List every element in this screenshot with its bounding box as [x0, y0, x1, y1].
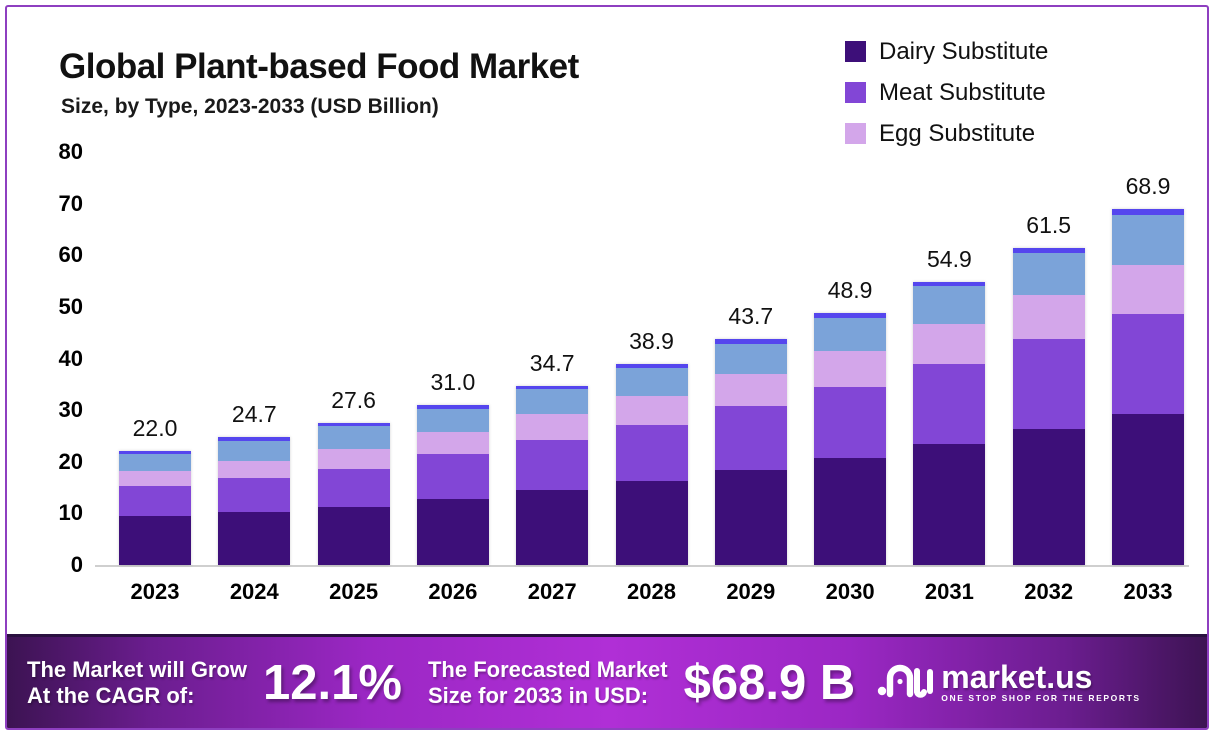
- bar-segment-band-blue: [218, 441, 290, 461]
- bar-segment-egg-substitute: [616, 396, 688, 424]
- y-axis-tick: 40: [39, 346, 83, 372]
- y-axis-tick: 80: [39, 139, 83, 165]
- bar-2025[interactable]: [318, 423, 390, 565]
- market-us-logo-tagline: ONE STOP SHOP FOR THE REPORTS: [941, 693, 1140, 703]
- forecast-caption: The Forecasted Market Size for 2033 in U…: [428, 657, 668, 709]
- x-axis-line: [95, 565, 1189, 567]
- bar-value-label-2032: 61.5: [989, 212, 1109, 239]
- bar-segment-dairy-substitute: [715, 470, 787, 564]
- bar-segment-egg-substitute: [218, 461, 290, 479]
- bar-segment-band-blue: [119, 454, 191, 471]
- forecast-caption-line2: Size for 2033 in USD:: [428, 683, 668, 709]
- bar-2028[interactable]: [616, 364, 688, 565]
- market-us-logo-textblock: market.us ONE STOP SHOP FOR THE REPORTS: [941, 662, 1140, 703]
- bar-segment-egg-substitute: [1013, 295, 1085, 339]
- bar-2027[interactable]: [516, 386, 588, 565]
- bar-segment-meat-substitute: [1112, 314, 1184, 414]
- bar-segment-meat-substitute: [516, 440, 588, 491]
- bar-segment-egg-substitute: [1112, 265, 1184, 315]
- bar-segment-meat-substitute: [417, 454, 489, 498]
- bar-2031[interactable]: [913, 282, 985, 565]
- y-axis-tick: 10: [39, 500, 83, 526]
- bar-2024[interactable]: [218, 437, 290, 565]
- bar-segment-meat-substitute: [715, 406, 787, 471]
- bar-segment-band-blue: [814, 318, 886, 352]
- bar-segment-band-blue: [1013, 253, 1085, 295]
- bar-value-label-2033: 68.9: [1088, 173, 1208, 200]
- bar-segment-dairy-substitute: [1013, 429, 1085, 565]
- y-axis-tick: 70: [39, 191, 83, 217]
- chart-plot-area: 0102030405060708022.0202324.7202427.6202…: [7, 7, 1209, 619]
- x-axis-tick-2033: 2033: [1088, 579, 1208, 605]
- bar-2030[interactable]: [814, 313, 886, 565]
- cagr-value: 12.1%: [263, 655, 402, 711]
- bar-segment-dairy-substitute: [119, 516, 191, 565]
- bar-value-label-2029: 43.7: [691, 303, 811, 330]
- bar-segment-band-blue: [715, 344, 787, 375]
- forecast-caption-line1: The Forecasted Market: [428, 657, 668, 683]
- bar-segment-band-blue: [913, 286, 985, 324]
- bar-2029[interactable]: [715, 339, 787, 565]
- bar-value-label-2031: 54.9: [889, 246, 1009, 273]
- bar-segment-band-blue: [417, 409, 489, 432]
- bar-value-label-2030: 48.9: [790, 277, 910, 304]
- y-axis-tick: 0: [39, 552, 83, 578]
- bar-segment-egg-substitute: [417, 432, 489, 455]
- bar-segment-band-blue: [616, 368, 688, 396]
- bar-segment-egg-substitute: [516, 414, 588, 439]
- bar-segment-meat-substitute: [1013, 339, 1085, 429]
- bar-2032[interactable]: [1013, 248, 1085, 565]
- bar-segment-dairy-substitute: [1112, 414, 1184, 565]
- bar-segment-meat-substitute: [218, 478, 290, 512]
- market-us-logo[interactable]: market.us ONE STOP SHOP FOR THE REPORTS: [877, 661, 1140, 704]
- infographic-frame: Global Plant-based Food Market Size, by …: [5, 5, 1209, 730]
- market-us-logomark-icon: [877, 661, 933, 704]
- bar-segment-dairy-substitute: [516, 490, 588, 565]
- bar-segment-meat-substitute: [913, 364, 985, 444]
- bar-segment-egg-substitute: [814, 351, 886, 387]
- y-axis-tick: 60: [39, 242, 83, 268]
- forecast-value: $68.9 B: [684, 655, 856, 711]
- bar-segment-egg-substitute: [119, 471, 191, 486]
- market-us-logo-name: market.us: [941, 662, 1140, 692]
- bar-segment-meat-substitute: [814, 387, 886, 458]
- bar-2023[interactable]: [119, 451, 191, 565]
- bar-segment-band-blue: [1112, 215, 1184, 264]
- bar-segment-dairy-substitute: [814, 458, 886, 565]
- y-axis-tick: 30: [39, 397, 83, 423]
- bar-segment-egg-substitute: [913, 324, 985, 364]
- bar-segment-band-blue: [516, 389, 588, 414]
- bar-segment-meat-substitute: [616, 425, 688, 482]
- bar-segment-meat-substitute: [318, 469, 390, 507]
- bar-segment-dairy-substitute: [616, 481, 688, 565]
- summary-banner: The Market will Grow At the CAGR of: 12.…: [7, 634, 1209, 728]
- cagr-caption-line1: The Market will Grow: [27, 657, 247, 683]
- cagr-caption-line2: At the CAGR of:: [27, 683, 247, 709]
- bar-segment-egg-substitute: [318, 449, 390, 469]
- bar-segment-egg-substitute: [715, 374, 787, 405]
- y-axis-tick: 50: [39, 294, 83, 320]
- bar-segment-band-blue: [318, 426, 390, 449]
- bar-segment-dairy-substitute: [913, 444, 985, 565]
- bar-segment-dairy-substitute: [218, 512, 290, 565]
- bar-segment-dairy-substitute: [318, 507, 390, 565]
- y-axis-tick: 20: [39, 449, 83, 475]
- bar-2033[interactable]: [1112, 209, 1184, 565]
- bar-segment-dairy-substitute: [417, 499, 489, 565]
- bar-segment-meat-substitute: [119, 486, 191, 516]
- bar-2026[interactable]: [417, 405, 489, 565]
- cagr-caption: The Market will Grow At the CAGR of:: [27, 657, 247, 709]
- bar-value-label-2028: 38.9: [592, 328, 712, 355]
